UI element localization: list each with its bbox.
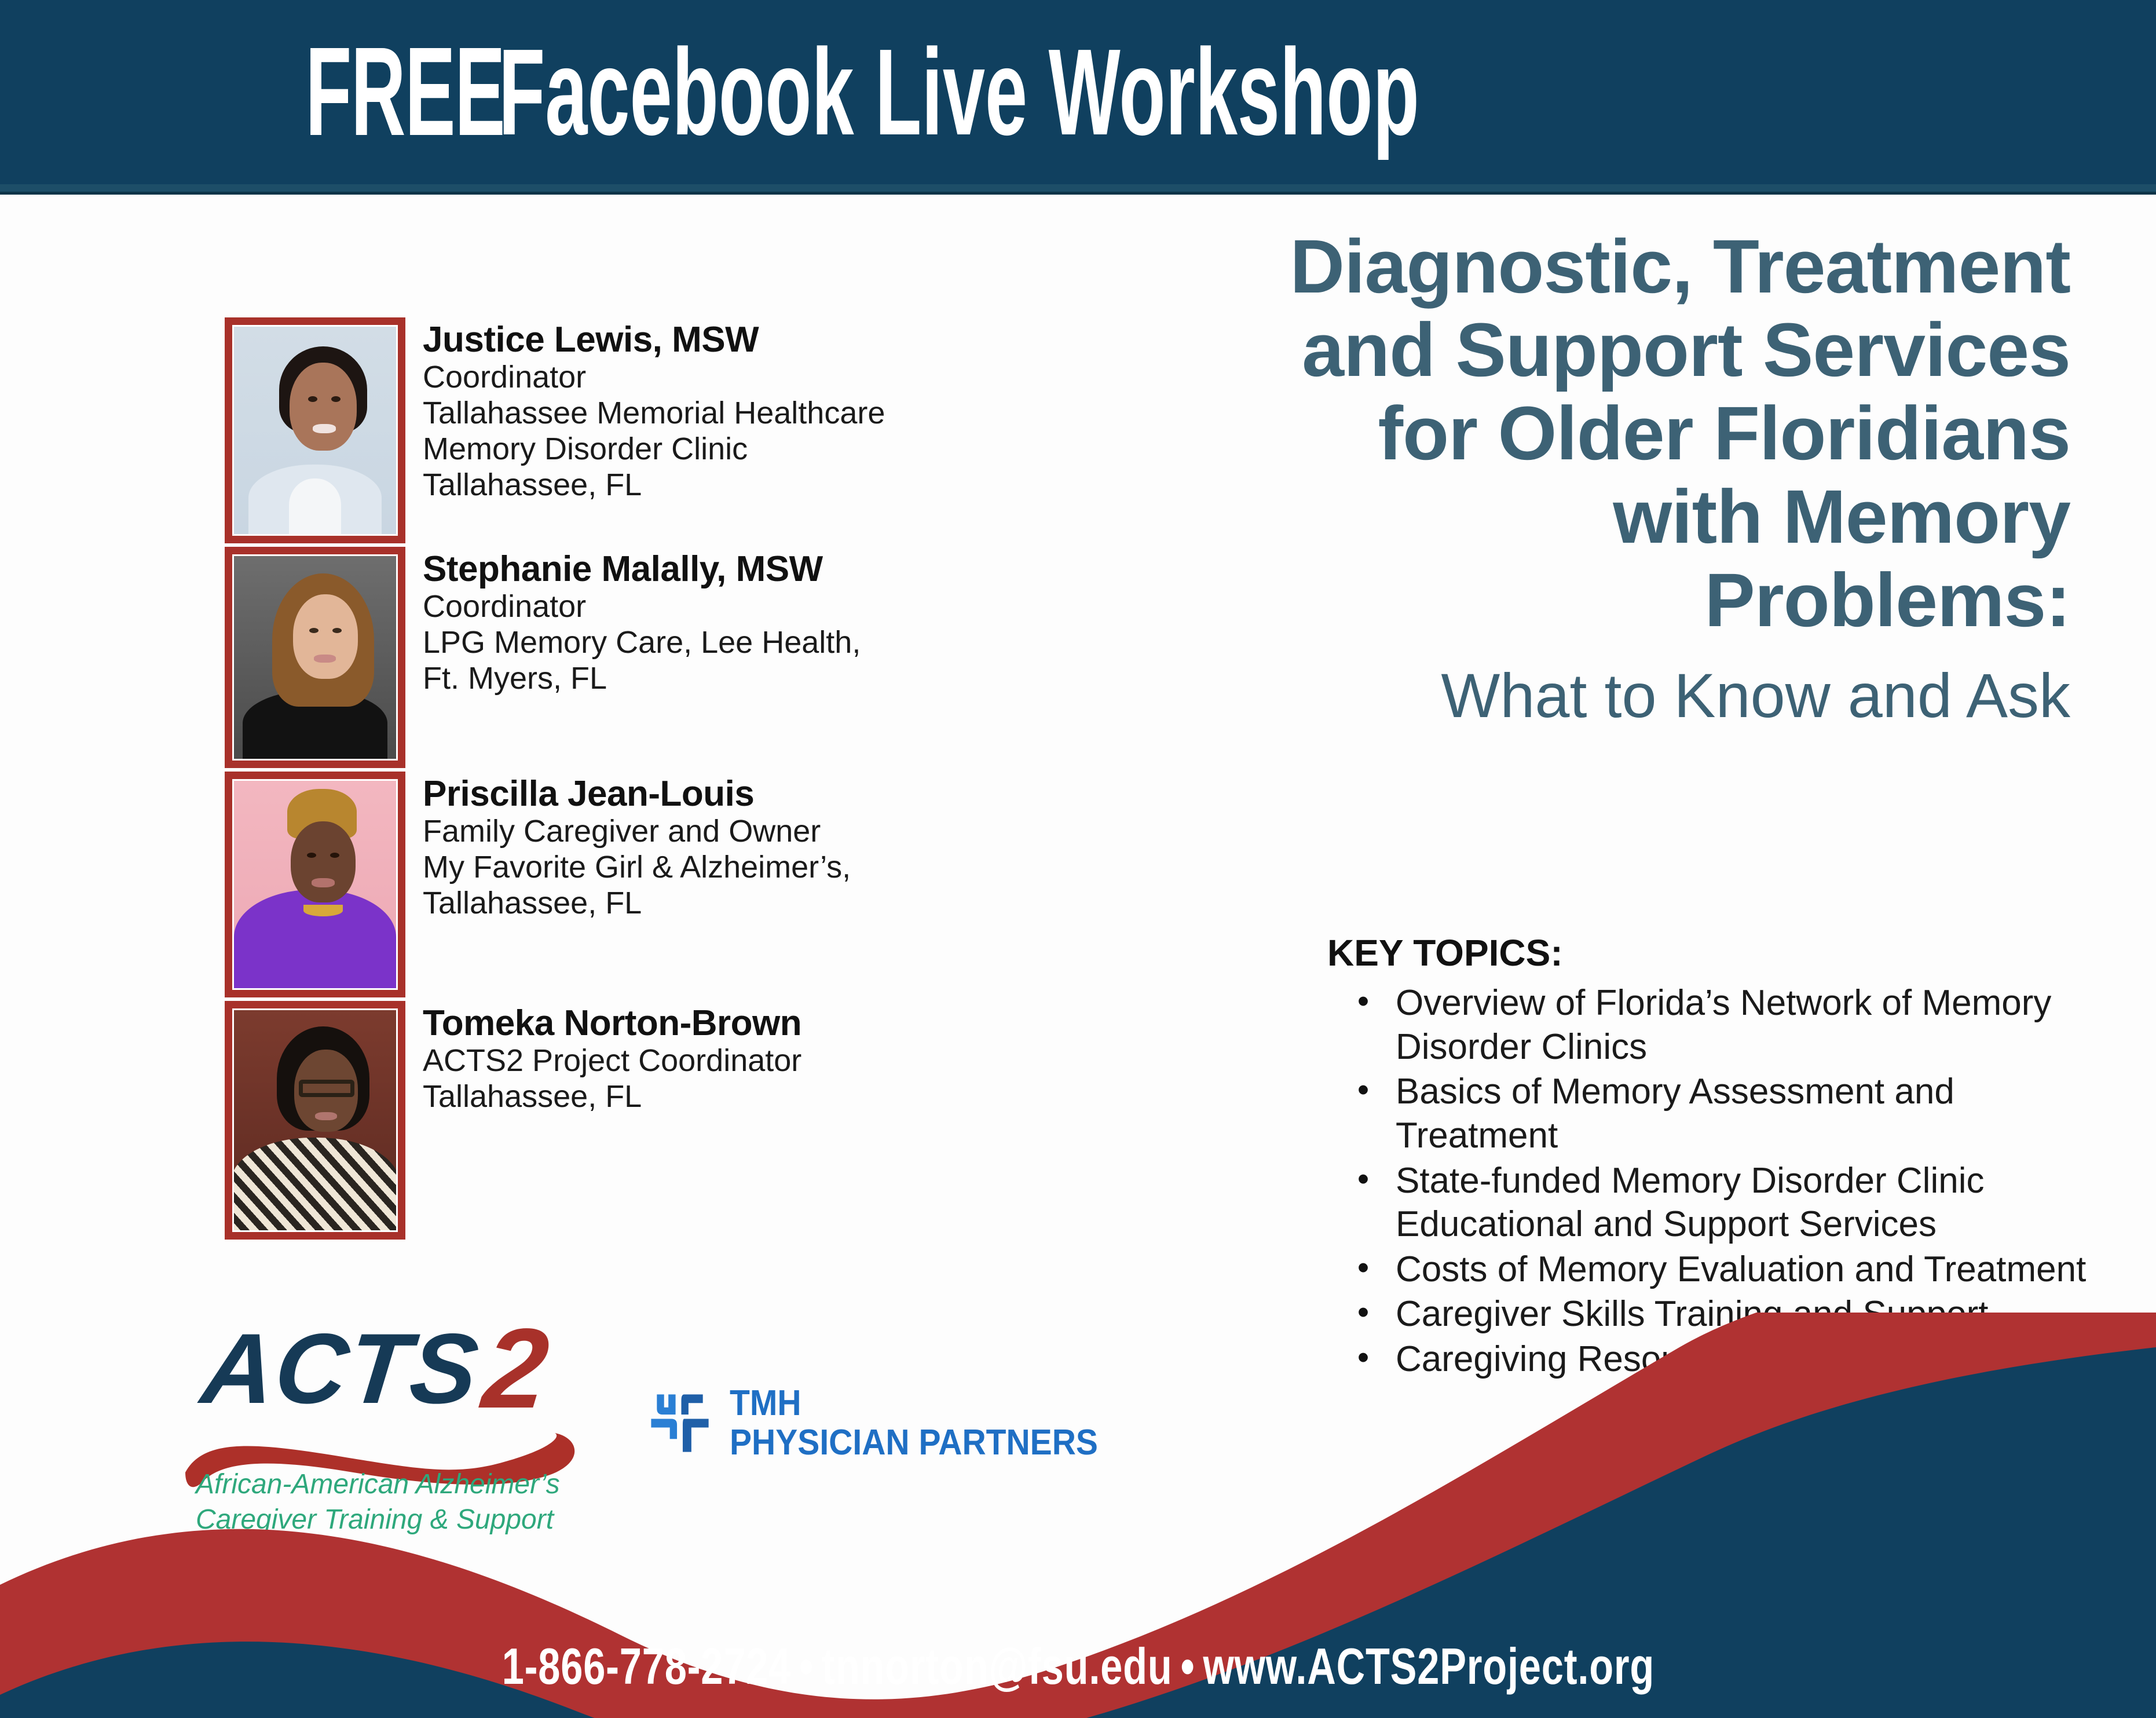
bullet-icon: • [1327,1159,1396,1200]
footer-email[interactable]: tnnorton@fsu.edu [822,1637,1173,1695]
list-item: • Caregiver Skills Training and Support [1327,1292,2115,1336]
bullet-icon: • [1327,1292,1396,1333]
title-line: with Memory [1051,475,2070,558]
footer-website-prefix[interactable]: www. [1203,1637,1307,1695]
footer-website-suffix[interactable]: .org [1577,1637,1654,1695]
tmh-physician-partners-logo: TMH PHYSICIAN PARTNERS [644,1386,1130,1461]
speaker-name: Priscilla Jean-Louis [423,775,851,813]
key-topic-text: Overview of Florida’s Network of Memory … [1396,981,2115,1069]
headshot-justice-lewis [234,327,396,534]
tmh-wordmark: TMH PHYSICIAN PARTNERS [730,1386,1130,1461]
speaker-detail: Ft. Myers, FL [423,660,861,696]
acts2-numeral: 2 [477,1303,555,1434]
speaker-photo-frame [225,317,405,543]
speaker-photo-frame [225,547,405,768]
list-item: • Costs of Memory Evaluation and Treatme… [1327,1248,2115,1292]
speaker-detail: Family Caregiver and Owner [423,813,851,849]
speaker-detail: Tallahassee, FL [423,1079,801,1114]
speaker-detail: Coordinator [423,359,885,395]
speaker-detail: ACTS2 Project Coordinator [423,1043,801,1079]
headshot-tomeka-norton-brown [234,1010,396,1230]
footer-phone[interactable]: 1-866-778-2724 [502,1637,790,1695]
speaker-text: Priscilla Jean-Louis Family Caregiver an… [423,772,851,921]
footer-contact-text: 1-866-778-2724•tnnorton@fsu.edu•www.ACTS… [502,1637,1654,1696]
title-line: for Older Floridians [1051,392,2070,475]
key-topics-section: KEY TOPICS: • Overview of Florida’s Netw… [1327,931,2115,1383]
speaker-detail: Coordinator [423,588,861,624]
key-topic-text: Costs of Memory Evaluation and Treatment [1396,1248,2115,1292]
headshot-stephanie-malally [234,556,396,759]
tmh-line1: TMH [730,1386,1098,1421]
speaker-text: Stephanie Malally, MSW Coordinator LPG M… [423,547,861,696]
speaker-item: Tomeka Norton-Brown ACTS2 Project Coordi… [225,1001,1001,1240]
speaker-detail: Tallahassee, FL [423,885,851,921]
footer-website-main[interactable]: ACTS2Project [1307,1637,1577,1695]
speaker-item: Justice Lewis, MSW Coordinator Tallahass… [225,317,1001,543]
speakers-list: Justice Lewis, MSW Coordinator Tallahass… [225,317,1001,1243]
footer-separator: • [1172,1637,1203,1695]
header-title: FREE Facebook Live Workshop [0,0,2156,184]
title-subtitle: What to Know and Ask [1051,657,2070,734]
bullet-icon: • [1327,1248,1396,1289]
speaker-name: Stephanie Malally, MSW [423,550,861,588]
speaker-item: Stephanie Malally, MSW Coordinator LPG M… [225,547,1001,768]
key-topic-text: Caregiver Skills Training and Support [1396,1292,2115,1336]
speaker-detail: My Favorite Girl & Alzheimer’s, [423,849,851,885]
list-item: • Overview of Florida’s Network of Memor… [1327,981,2115,1069]
list-item: • Basics of Memory Assessment and Treatm… [1327,1070,2115,1157]
footer-separator: • [791,1637,822,1695]
key-topic-text: State-funded Memory Disorder Clinic Educ… [1396,1159,2115,1247]
speaker-text: Tomeka Norton-Brown ACTS2 Project Coordi… [423,1001,801,1114]
title-line: Problems: [1051,558,2070,642]
acts2-logo: ACTS2 African-American Alzheimer’s Careg… [185,1303,602,1547]
tmh-cross-icon [644,1387,716,1459]
speaker-name: Tomeka Norton-Brown [423,1004,801,1043]
speaker-detail: Tallahassee, FL [423,467,885,503]
key-topics-heading: KEY TOPICS: [1327,931,2115,974]
list-item: • Caregiving Resources [1327,1337,2115,1381]
tmh-line2: PHYSICIAN PARTNERS [730,1425,1098,1461]
speaker-detail: Memory Disorder Clinic [423,431,885,467]
acts2-tagline: African-American Alzheimer’s Caregiver T… [196,1467,560,1538]
bullet-icon: • [1327,981,1396,1022]
bullet-icon: • [1327,1337,1396,1379]
header-workshop-words: Facebook Live Workshop [499,35,1419,148]
footer-contact-bar: 1-866-778-2724•tnnorton@fsu.edu•www.ACTS… [0,1637,2156,1696]
title-line: and Support Services [1051,308,2070,392]
acts2-tagline-line1: African-American Alzheimer’s [196,1467,560,1502]
acts2-wordmark: ACTS2 [196,1303,555,1434]
acts2-word: ACTS [197,1313,484,1424]
list-item: • State-funded Memory Disorder Clinic Ed… [1327,1159,2115,1247]
speaker-photo-frame [225,772,405,997]
header-free-word: FREE [305,34,504,151]
page-title: Diagnostic, Treatment and Support Servic… [1051,225,2070,734]
title-line: Diagnostic, Treatment [1051,225,2070,308]
header-underline-rule [0,184,2156,195]
acts2-tagline-line2: Caregiver Training & Support [196,1502,560,1537]
speaker-text: Justice Lewis, MSW Coordinator Tallahass… [423,317,885,503]
speaker-name: Justice Lewis, MSW [423,321,885,359]
key-topic-text: Basics of Memory Assessment and Treatmen… [1396,1070,2115,1157]
speaker-detail: Tallahassee Memorial Healthcare [423,395,885,431]
headshot-priscilla-jean-louis [234,781,396,988]
key-topic-text: Caregiving Resources [1396,1337,2115,1381]
speaker-item: Priscilla Jean-Louis Family Caregiver an… [225,772,1001,997]
speaker-detail: LPG Memory Care, Lee Health, [423,624,861,660]
bullet-icon: • [1327,1070,1396,1111]
speaker-photo-frame [225,1001,405,1240]
